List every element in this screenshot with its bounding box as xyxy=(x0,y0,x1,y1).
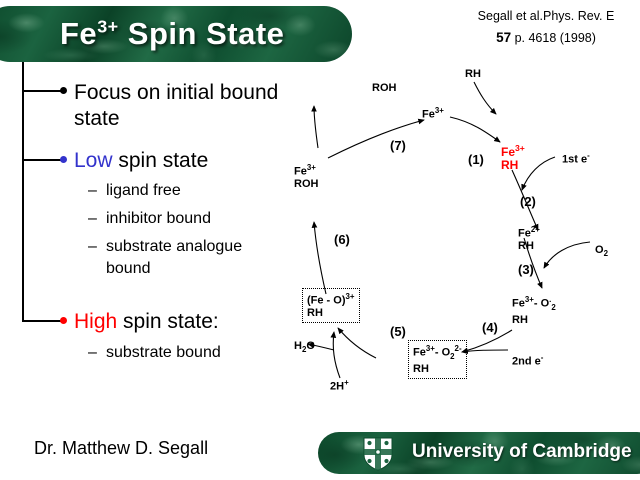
sub-item-inhibitor-bound: inhibitor bound xyxy=(106,208,316,230)
slide-canvas: Fe3+ Spin State Segall et al.Phys. Rev. … xyxy=(0,0,640,480)
bullet-rest-high: spin state: xyxy=(117,310,219,333)
step-label-6: (6) xyxy=(334,232,350,247)
title-rest: Spin State xyxy=(119,16,285,51)
species-label-h2o: H2O xyxy=(294,340,315,356)
species-label-fe3-rh: Fe3+RH xyxy=(501,142,525,172)
species-label-fe3-peroxide: Fe3+- O22-RH xyxy=(408,340,467,379)
species-label-o2: O2 xyxy=(595,244,608,260)
bullet-dot-1 xyxy=(60,87,67,94)
bullet-text-1: Focus on initial bound state xyxy=(74,80,304,132)
sub-item-substrate-analogue-bound: substrate analogue bound xyxy=(106,236,286,280)
page-title: Fe3+ Spin State xyxy=(60,16,350,52)
title-superscript: 3+ xyxy=(97,17,119,37)
step-label-2: (2) xyxy=(520,194,536,209)
catalytic-cycle-diagram: ROH RH Fe3+ Fe3+RH Fe3+ROH Fe2+RH O2 Fe3… xyxy=(290,62,640,402)
title-main: Fe xyxy=(60,16,97,51)
step-label-1: (1) xyxy=(468,152,484,167)
species-label-fe3-superoxide: Fe3+- O.2RH xyxy=(512,294,556,326)
sub-item-substrate-bound: substrate bound xyxy=(106,342,316,364)
step-label-4: (4) xyxy=(482,320,498,335)
bullet-lead-word-high: High xyxy=(74,310,117,333)
step-label-7: (7) xyxy=(390,138,406,153)
bullet-text-2: Low spin state xyxy=(74,148,304,174)
citation-line-1: Segall et al.Phys. Rev. E xyxy=(452,6,640,27)
sub-item-ligand-free: ligand free xyxy=(106,180,316,202)
bullet-rest-low: spin state xyxy=(113,149,209,172)
bullet-connector-2 xyxy=(22,159,62,161)
bullet-dot-2 xyxy=(60,156,67,163)
sub-dash-2-2: – xyxy=(88,208,97,230)
bullet-dot-3 xyxy=(60,317,67,324)
bullet-text-3: High spin state: xyxy=(74,309,304,335)
sub-dash-2-3: – xyxy=(88,236,97,258)
citation-pages: p. 4618 (1998) xyxy=(511,31,596,45)
author-name: Dr. Matthew D. Segall xyxy=(34,438,208,459)
species-label-fe2-rh: Fe2+RH xyxy=(518,224,540,252)
species-label-fe-o-oxo: (Fe - O)3+RH xyxy=(302,288,360,323)
arrow-group xyxy=(308,82,590,378)
sub-dash-2-1: – xyxy=(88,180,97,202)
species-label-fe3: Fe3+ xyxy=(422,105,444,121)
species-label-second-electron: 2nd e- xyxy=(512,352,543,368)
species-label-2h-plus: 2H+ xyxy=(330,377,349,393)
footer-organization: University of Cambridge xyxy=(412,441,632,463)
cambridge-coat-of-arms-icon xyxy=(362,437,394,471)
step-label-5: (5) xyxy=(390,324,406,339)
citation-volume: 57 xyxy=(496,30,511,45)
species-label-rh: RH xyxy=(465,68,481,80)
species-label-roh: ROH xyxy=(372,82,396,94)
species-label-first-electron: 1st e- xyxy=(562,150,590,166)
species-label-fe3-roh: Fe3+ROH xyxy=(294,162,318,190)
citation-line-2: 57 p. 4618 (1998) xyxy=(452,27,640,49)
bullet-connector-1 xyxy=(22,90,62,92)
sub-dash-3-1: – xyxy=(88,342,97,364)
step-label-3: (3) xyxy=(518,262,534,277)
bullet-spine-line xyxy=(22,62,24,322)
citation-block: Segall et al.Phys. Rev. E 57 p. 4618 (19… xyxy=(452,6,640,49)
bullet-connector-3 xyxy=(22,320,62,322)
bullet-lead-word-low: Low xyxy=(74,149,113,172)
